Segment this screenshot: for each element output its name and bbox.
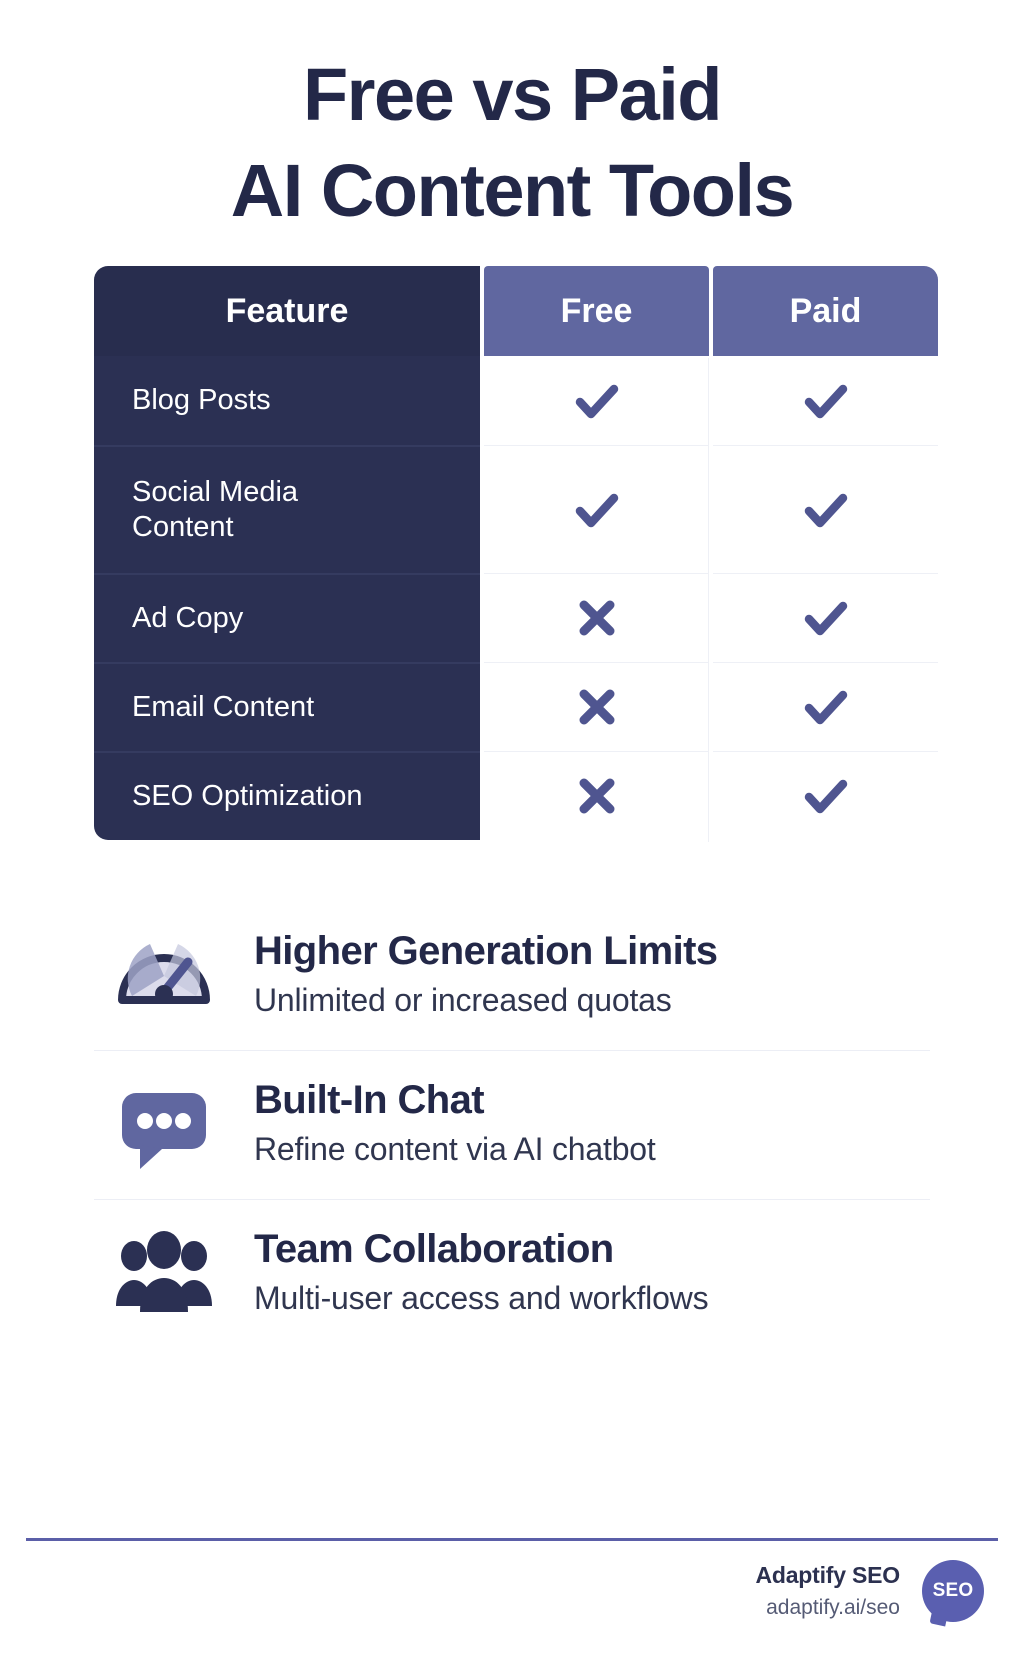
cell-paid-check — [713, 573, 938, 662]
row-label: SEO Optimization — [94, 751, 480, 840]
benefit-title: Built-In Chat — [254, 1077, 930, 1123]
logo-label: SEO — [933, 1580, 974, 1602]
table-row: Ad Copy — [94, 573, 938, 662]
check-icon — [797, 767, 855, 825]
logo-tail — [930, 1608, 949, 1627]
gauge-icon-svg — [110, 922, 218, 1030]
cross-icon — [571, 681, 623, 733]
benefit-subtitle: Multi-user access and workflows — [254, 1279, 930, 1317]
benefit-item-higher-generation-limits: Higher Generation Limits Unlimited or in… — [94, 902, 930, 1050]
row-label: Email Content — [94, 662, 480, 751]
footer-brand: Adaptify SEO — [755, 1562, 900, 1589]
header-free: Free — [484, 266, 709, 356]
cell-paid-check — [713, 445, 938, 573]
row-label-line1: Social Media — [132, 476, 298, 508]
cell-free-check — [484, 356, 709, 445]
title-line-2: AI Content Tools — [0, 154, 1024, 228]
table-row: Blog Posts — [94, 356, 938, 445]
table-row: Social Media Content — [94, 445, 938, 573]
benefit-title: Higher Generation Limits — [254, 928, 930, 974]
comparison-table: Feature Free Paid Blog Posts — [94, 266, 938, 840]
cell-paid-check — [713, 751, 938, 840]
table-row: Email Content — [94, 662, 938, 751]
benefits-list: Higher Generation Limits Unlimited or in… — [94, 902, 930, 1348]
cell-free-cross — [484, 573, 709, 662]
check-icon — [797, 678, 855, 736]
row-label: Social Media Content — [94, 445, 480, 573]
gauge-icon — [108, 920, 220, 1032]
table-row: SEO Optimization — [94, 751, 938, 840]
check-icon — [797, 589, 855, 647]
footer-url[interactable]: adaptify.ai/seo — [755, 1596, 900, 1620]
check-icon — [568, 372, 626, 430]
benefit-subtitle: Refine content via AI chatbot — [254, 1130, 930, 1168]
infographic-page: Free vs Paid AI Content Tools Feature Fr… — [0, 0, 1024, 1666]
check-icon — [797, 372, 855, 430]
header-paid: Paid — [713, 266, 938, 356]
row-label: Blog Posts — [94, 356, 480, 445]
benefit-title: Team Collaboration — [254, 1226, 930, 1272]
cell-free-cross — [484, 662, 709, 751]
cross-icon — [571, 592, 623, 644]
benefit-item-team-collaboration: Team Collaboration Multi-user access and… — [94, 1199, 930, 1348]
chat-bubble-icon-svg — [110, 1071, 218, 1179]
footer-divider — [26, 1538, 998, 1541]
team-people-icon-svg — [110, 1220, 218, 1328]
benefit-item-built-in-chat: Built-In Chat Refine content via AI chat… — [94, 1050, 930, 1199]
benefit-text: Higher Generation Limits Unlimited or in… — [254, 928, 930, 1023]
chat-bubble-icon — [108, 1069, 220, 1181]
header-feature: Feature — [94, 266, 480, 356]
benefit-text: Team Collaboration Multi-user access and… — [254, 1226, 930, 1321]
footer-text: Adaptify SEO adaptify.ai/seo — [755, 1562, 900, 1620]
check-icon — [797, 481, 855, 539]
title-line-1: Free vs Paid — [0, 58, 1024, 132]
row-label-line2: Content — [132, 511, 234, 543]
footer: Adaptify SEO adaptify.ai/seo SEO — [0, 1560, 984, 1622]
team-people-icon — [108, 1218, 220, 1330]
cross-icon — [571, 770, 623, 822]
row-label: Ad Copy — [94, 573, 480, 662]
page-title: Free vs Paid AI Content Tools — [0, 0, 1024, 228]
cell-free-check — [484, 445, 709, 573]
cell-paid-check — [713, 356, 938, 445]
comparison-table-wrapper: Feature Free Paid Blog Posts — [94, 266, 930, 840]
cell-paid-check — [713, 662, 938, 751]
check-icon — [568, 481, 626, 539]
table-header-row: Feature Free Paid — [94, 266, 938, 356]
cell-free-cross — [484, 751, 709, 840]
benefit-text: Built-In Chat Refine content via AI chat… — [254, 1077, 930, 1172]
adaptify-logo: SEO — [922, 1560, 984, 1622]
table-vertical-divider — [708, 358, 709, 842]
benefit-subtitle: Unlimited or increased quotas — [254, 981, 930, 1019]
